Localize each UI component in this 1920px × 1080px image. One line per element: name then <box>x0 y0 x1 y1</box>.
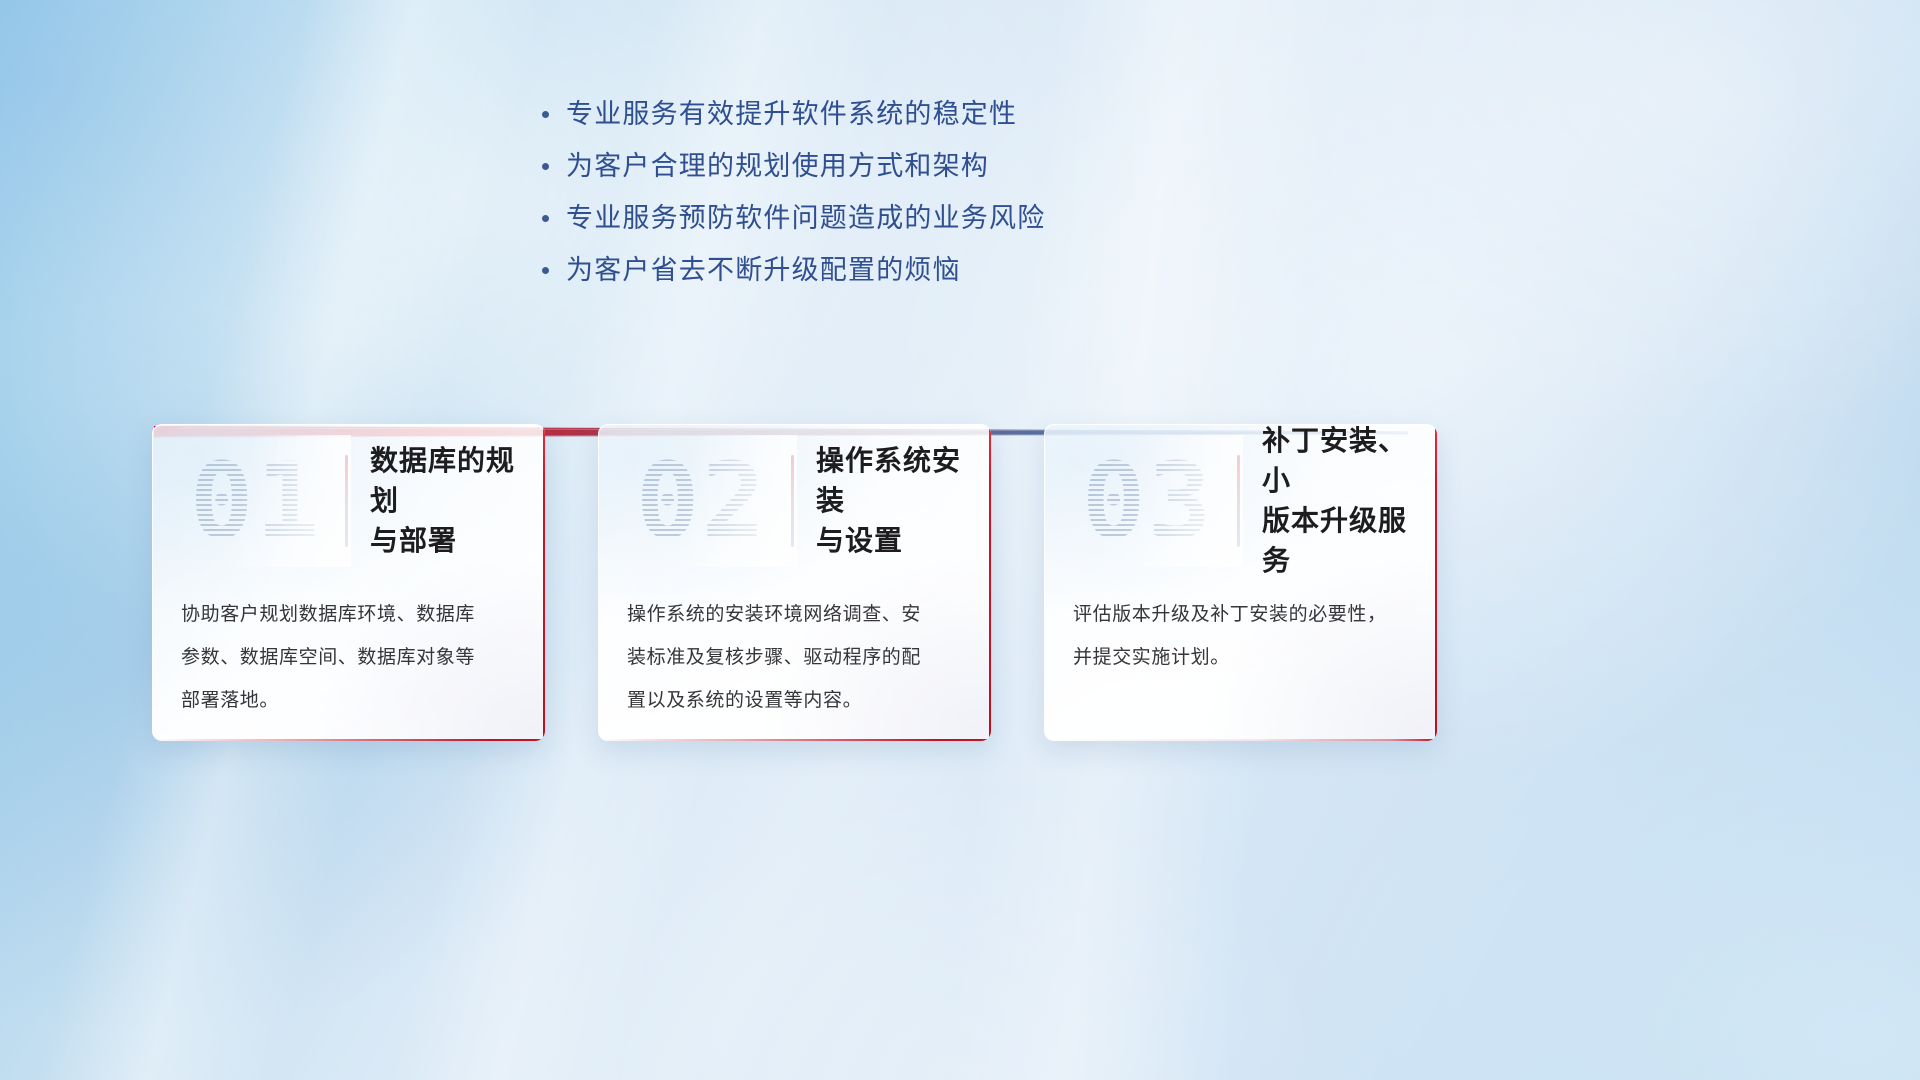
service-card[interactable]: 01 数据库的规划 与部署 协助客户规划数据库环境、数据库 参数、数据库空间、数… <box>152 424 545 741</box>
card-number-watermark: 02 <box>613 441 791 561</box>
card-title: 补丁安装、小 版本升级服务 <box>1262 424 1437 581</box>
card-body-text: 协助客户规划数据库环境、数据库 参数、数据库空间、数据库对象等 部署落地。 <box>181 593 515 722</box>
card-accent-edge-bottom <box>599 739 991 741</box>
card-header: 02 操作系统安装 与设置 <box>599 425 991 577</box>
card-accent-edge-bottom <box>1045 739 1437 741</box>
card-title-divider <box>345 455 348 547</box>
card-number-text: 01 <box>190 449 322 553</box>
card-header: 01 数据库的规划 与部署 <box>153 425 545 577</box>
card-title: 操作系统安装 与设置 <box>816 441 991 561</box>
card-title: 数据库的规划 与部署 <box>370 441 545 561</box>
card-number-watermark: 03 <box>1059 441 1237 561</box>
card-body-text: 操作系统的安装环境网络调查、安 装标准及复核步骤、驱动程序的配 置以及系统的设置… <box>627 593 961 722</box>
service-card-group: 01 数据库的规划 与部署 协助客户规划数据库环境、数据库 参数、数据库空间、数… <box>0 0 1920 1080</box>
card-number-watermark: 01 <box>167 441 345 561</box>
card-number-text: 03 <box>1082 449 1214 553</box>
card-accent-edge-bottom <box>153 739 545 741</box>
card-title-divider <box>1237 455 1240 547</box>
card-body-text: 评估版本升级及补丁安装的必要性， 并提交实施计划。 <box>1073 593 1407 679</box>
slide-canvas: 专业服务有效提升软件系统的稳定性 为客户合理的规划使用方式和架构 专业服务预防软… <box>0 0 1920 1080</box>
card-title-divider <box>791 455 794 547</box>
card-header: 03 补丁安装、小 版本升级服务 <box>1045 425 1437 577</box>
card-number-text: 02 <box>636 449 768 553</box>
service-card[interactable]: 03 补丁安装、小 版本升级服务 评估版本升级及补丁安装的必要性， 并提交实施计… <box>1044 424 1437 741</box>
service-card[interactable]: 02 操作系统安装 与设置 操作系统的安装环境网络调查、安 装标准及复核步骤、驱… <box>598 424 991 741</box>
